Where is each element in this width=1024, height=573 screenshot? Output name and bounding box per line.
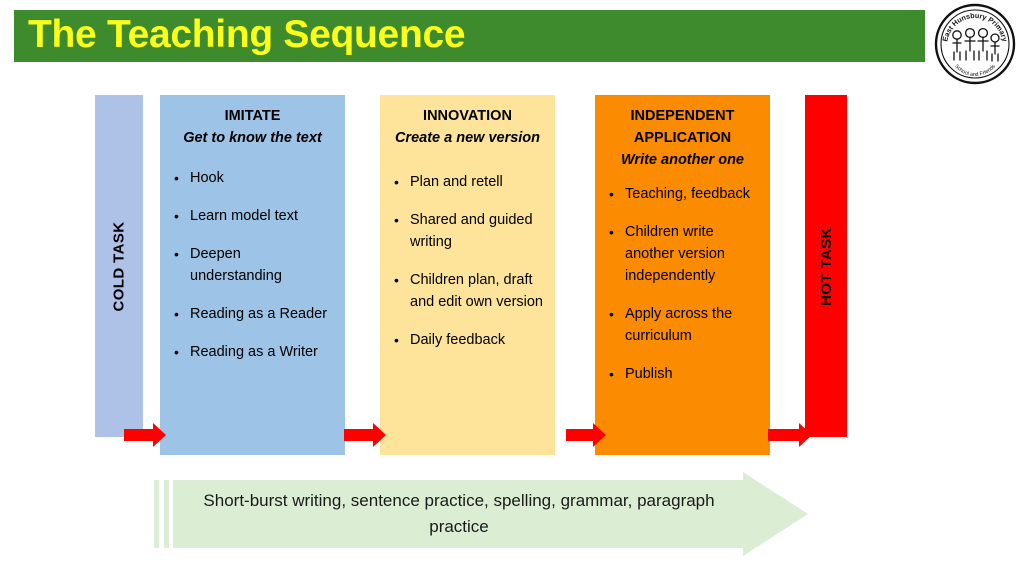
- list-item: Children write another version independe…: [605, 221, 760, 287]
- list-item: Plan and retell: [390, 171, 545, 193]
- stage-imitate-subheading: Get to know the text: [170, 127, 335, 149]
- stage-independent-heading-line-2: APPLICATION: [605, 127, 760, 149]
- connector-arrow-icon: [566, 423, 606, 447]
- list-item: Learn model text: [170, 205, 335, 227]
- stage-innovation-heading: INNOVATION: [390, 105, 545, 127]
- arrow-stripe-decoration: [154, 480, 159, 548]
- list-item: Hook: [170, 167, 335, 189]
- stage-imitate: IMITATE Get to know the text Hook Learn …: [160, 95, 345, 455]
- stage-independent-bullets: Teaching, feedback Children write anothe…: [605, 183, 760, 385]
- stage-independent-subheading: Write another one: [605, 149, 760, 171]
- bottom-banner-text: Short-burst writing, sentence practice, …: [184, 480, 734, 548]
- list-item: Reading as a Reader: [170, 303, 335, 325]
- bottom-arrow-banner: Short-burst writing, sentence practice, …: [154, 472, 844, 556]
- connector-arrow-icon: [344, 423, 386, 447]
- list-item: Shared and guided writing: [390, 209, 545, 253]
- arrow-stripe-decoration: [164, 480, 169, 548]
- list-item: Deepen understanding: [170, 243, 335, 287]
- connector-arrow-icon: [124, 423, 166, 447]
- arrow-head-icon: [743, 472, 808, 556]
- hot-task-label: HOT TASK: [818, 227, 835, 306]
- list-item: Reading as a Writer: [170, 341, 335, 363]
- list-item: Publish: [605, 363, 760, 385]
- cold-task-label: COLD TASK: [111, 221, 128, 311]
- stage-imitate-bullets: Hook Learn model text Deepen understandi…: [170, 167, 335, 363]
- list-item: Daily feedback: [390, 329, 545, 351]
- stage-innovation-bullets: Plan and retell Shared and guided writin…: [390, 171, 545, 351]
- list-item: Children plan, draft and edit own versio…: [390, 269, 545, 313]
- list-item: Apply across the curriculum: [605, 303, 760, 347]
- school-logo-icon: East Hunsbury Primary School and Friends: [933, 2, 1017, 86]
- list-item: Teaching, feedback: [605, 183, 760, 205]
- connector-arrow-icon: [768, 423, 812, 447]
- stage-innovation: INNOVATION Create a new version Plan and…: [380, 95, 555, 455]
- page-title: The Teaching Sequence: [28, 10, 465, 62]
- hot-task-bar: HOT TASK: [805, 95, 847, 437]
- stage-innovation-subheading: Create a new version: [390, 127, 545, 149]
- stage-imitate-heading: IMITATE: [170, 105, 335, 127]
- cold-task-bar: COLD TASK: [95, 95, 143, 437]
- stage-independent-heading-line-1: INDEPENDENT: [605, 105, 760, 127]
- stage-independent-application: INDEPENDENT APPLICATION Write another on…: [595, 95, 770, 455]
